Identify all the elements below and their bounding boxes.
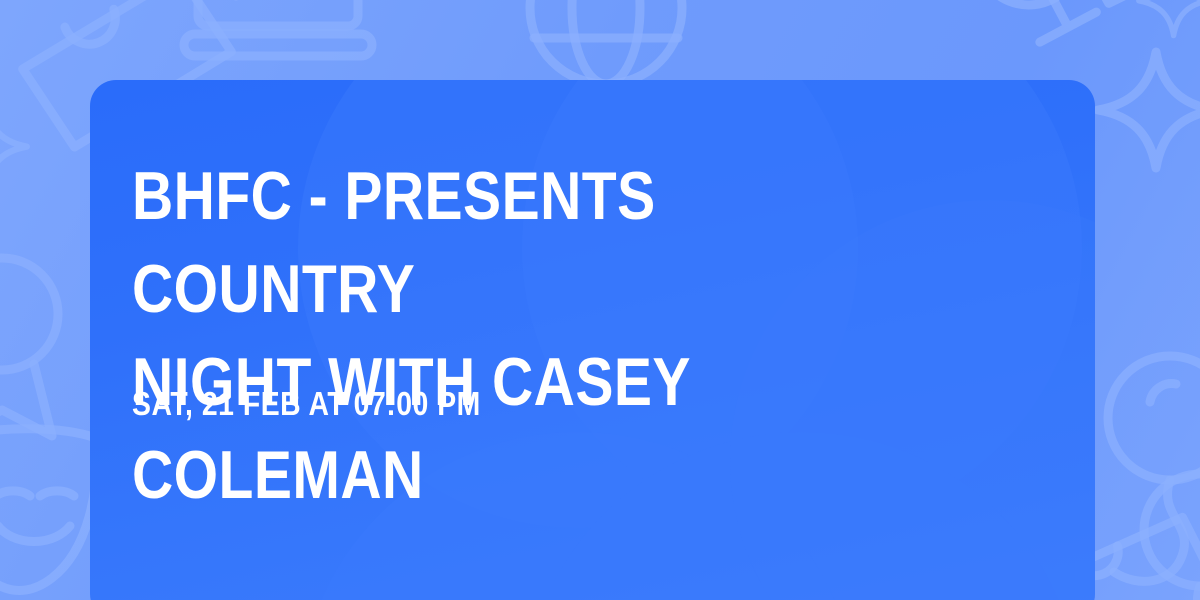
balloon-icon [1108,356,1200,581]
sparkle-icon [0,106,27,187]
sparkle-icon [1139,0,1200,36]
ribbon-icon [0,258,58,436]
microphone-icon [947,0,1114,52]
balloon-icon [1144,474,1200,600]
theater-masks-icon [0,429,97,591]
sparkle-icon [1098,52,1200,168]
event-card-content: BHFC - Presents Country Night With Casey… [132,80,1062,600]
presentation-screen-icon [184,0,372,56]
event-banner: BHFC - Presents Country Night With Casey… [0,0,1200,600]
event-title: BHFC - Presents Country Night With Casey… [132,150,854,522]
ticket-icon [1058,0,1200,9]
event-card: BHFC - Presents Country Night With Casey… [90,80,1095,600]
event-datetime: Sat, 21 Feb at 07:00 PM [132,384,481,424]
